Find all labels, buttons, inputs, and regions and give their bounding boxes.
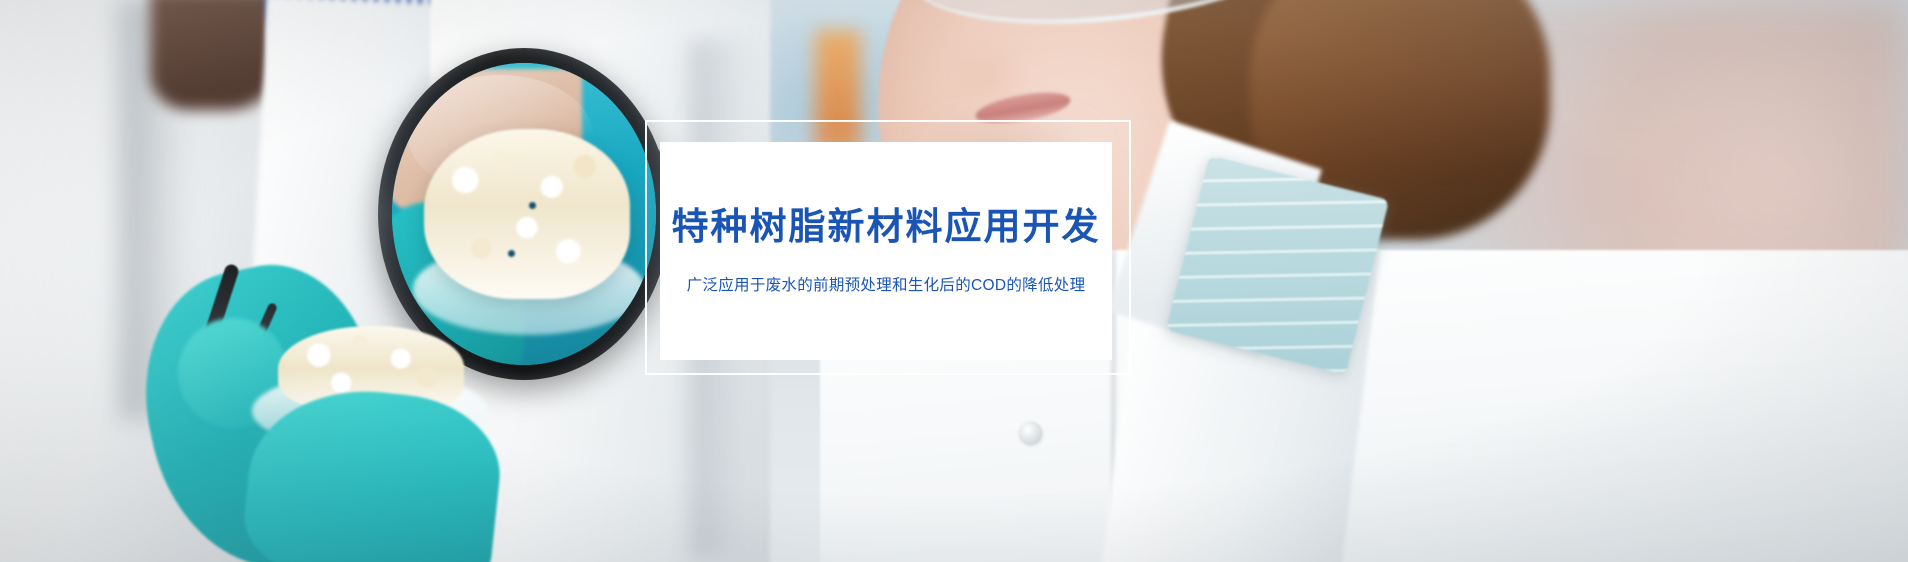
shoulder-shadow [150,0,280,110]
scientist-nose [955,38,1025,98]
magnifier-glass-reflection [408,75,593,196]
coat-button [1020,422,1042,444]
hero-banner: 特种树脂新材料应用开发 广泛应用于废水的前期预处理和生化后的COD的降低处理 [0,0,1908,562]
banner-title: 特种树脂新材料应用开发 [672,207,1101,248]
overlay-text-panel: 特种树脂新材料应用开发 广泛应用于废水的前期预处理和生化后的COD的降低处理 [660,142,1112,360]
magnifier-glass [392,63,656,365]
magnifier-lens [378,48,670,380]
banner-subtitle: 广泛应用于废水的前期预处理和生化后的COD的降低处理 [687,273,1086,295]
